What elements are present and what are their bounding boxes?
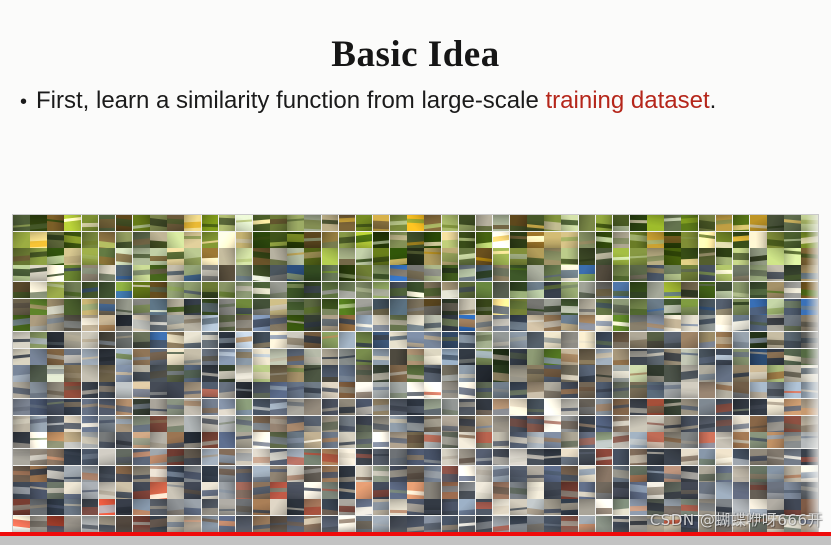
thumbnail-tile: [510, 499, 527, 515]
thumbnail-tile: [613, 399, 630, 415]
thumbnail-tile: [133, 449, 150, 465]
thumbnail-tile: [184, 265, 201, 281]
thumbnail-tile: [784, 232, 801, 248]
thumbnail-tile: [527, 432, 544, 448]
thumbnail-tile: [304, 248, 321, 264]
thumbnail-tile: [390, 215, 407, 231]
thumbnail-tile: [99, 432, 116, 448]
thumbnail-tile: [304, 466, 321, 482]
thumbnail-tile: [270, 382, 287, 398]
thumbnail-tile: [442, 399, 459, 415]
thumbnail-tile: [750, 332, 767, 348]
thumbnail-tile: [99, 399, 116, 415]
thumbnail-tile: [613, 466, 630, 482]
thumbnail-tile: [510, 399, 527, 415]
thumbnail-tile: [30, 516, 47, 532]
thumbnail-tile: [493, 299, 510, 315]
thumbnail-tile: [356, 365, 373, 381]
thumbnail-tile: [184, 248, 201, 264]
thumbnail-tile: [544, 349, 561, 365]
thumbnail-tile: [664, 449, 681, 465]
thumbnail-tile: [167, 466, 184, 482]
thumbnail-tile: [116, 299, 133, 315]
thumbnail-tile: [767, 382, 784, 398]
thumbnail-tile: [184, 432, 201, 448]
thumbnail-tile: [784, 215, 801, 231]
thumbnail-tile: [322, 499, 339, 515]
bullet-line: • First, learn a similarity function fro…: [20, 86, 817, 117]
thumbnail-tile: [442, 315, 459, 331]
thumbnail-tile: [202, 232, 219, 248]
thumbnail-tile: [647, 382, 664, 398]
thumbnail-tile: [613, 365, 630, 381]
thumbnail-tile: [596, 215, 613, 231]
thumbnail-tile: [13, 466, 30, 482]
thumbnail-tile: [681, 232, 698, 248]
thumbnail-tile: [287, 482, 304, 498]
thumbnail-tile: [116, 499, 133, 515]
thumbnail-tile: [30, 315, 47, 331]
thumbnail-tile: [596, 499, 613, 515]
thumbnail-tile: [99, 282, 116, 298]
thumbnail-tile: [424, 449, 441, 465]
thumbnail-tile: [664, 215, 681, 231]
thumbnail-tile: [356, 248, 373, 264]
thumbnail-tile: [733, 332, 750, 348]
thumbnail-tile: [253, 365, 270, 381]
thumbnail-tile: [630, 449, 647, 465]
thumbnail-tile: [390, 299, 407, 315]
thumbnail-tile: [699, 349, 716, 365]
thumbnail-tile: [733, 248, 750, 264]
thumbnail-tile: [596, 349, 613, 365]
thumbnail-tile: [630, 215, 647, 231]
thumbnail-tile: [47, 399, 64, 415]
thumbnail-tile: [219, 516, 236, 532]
thumbnail-tile: [13, 332, 30, 348]
thumbnail-tile: [407, 248, 424, 264]
thumbnail-tile: [82, 365, 99, 381]
thumbnail-tile: [270, 416, 287, 432]
thumbnail-tile: [681, 466, 698, 482]
thumbnail-tile: [99, 416, 116, 432]
thumbnail-tile: [493, 248, 510, 264]
thumbnail-tile: [322, 399, 339, 415]
thumbnail-tile: [236, 466, 253, 482]
thumbnail-tile: [596, 516, 613, 532]
thumbnail-tile: [664, 399, 681, 415]
thumbnail-tile: [184, 382, 201, 398]
thumbnail-tile: [47, 416, 64, 432]
thumbnail-tile: [133, 365, 150, 381]
thumbnail-tile: [64, 282, 81, 298]
thumbnail-tile: [167, 416, 184, 432]
thumbnail-tile: [579, 248, 596, 264]
thumbnail-tile: [184, 499, 201, 515]
thumbnail-tile: [64, 232, 81, 248]
thumbnail-tile: [527, 349, 544, 365]
thumbnail-tile: [459, 399, 476, 415]
thumbnail-tile: [150, 499, 167, 515]
thumbnail-tile: [373, 449, 390, 465]
thumbnail-tile: [407, 416, 424, 432]
thumbnail-tile: [339, 299, 356, 315]
thumbnail-tile: [459, 315, 476, 331]
thumbnail-tile: [476, 282, 493, 298]
thumbnail-tile: [561, 349, 578, 365]
thumbnail-tile: [442, 248, 459, 264]
thumbnail-tile: [699, 499, 716, 515]
thumbnail-tile: [304, 215, 321, 231]
thumbnail-tile: [579, 232, 596, 248]
thumbnail-tile: [133, 265, 150, 281]
thumbnail-tile: [579, 382, 596, 398]
thumbnail-tile: [476, 232, 493, 248]
thumbnail-tile: [202, 482, 219, 498]
thumbnail-tile: [270, 332, 287, 348]
thumbnail-tile: [801, 482, 818, 498]
thumbnail-tile: [733, 416, 750, 432]
thumbnail-tile: [253, 416, 270, 432]
thumbnail-tile: [13, 399, 30, 415]
thumbnail-tile: [236, 499, 253, 515]
thumbnail-tile: [664, 282, 681, 298]
thumbnail-tile: [47, 248, 64, 264]
thumbnail-tile: [630, 349, 647, 365]
thumbnail-tile: [681, 315, 698, 331]
thumbnail-tile: [716, 466, 733, 482]
thumbnail-tile: [184, 365, 201, 381]
thumbnail-tile: [561, 215, 578, 231]
thumbnail-tile: [82, 332, 99, 348]
thumbnail-tile: [304, 232, 321, 248]
thumbnail-tile: [681, 349, 698, 365]
thumbnail-tile: [733, 282, 750, 298]
thumbnail-tile: [561, 232, 578, 248]
thumbnail-tile: [561, 449, 578, 465]
thumbnail-tile: [424, 482, 441, 498]
thumbnail-tile: [270, 232, 287, 248]
thumbnail-tile: [733, 399, 750, 415]
thumbnail-tile: [647, 365, 664, 381]
thumbnail-tile: [750, 382, 767, 398]
thumbnail-tile: [150, 399, 167, 415]
thumbnail-tile: [733, 232, 750, 248]
thumbnail-tile: [99, 315, 116, 331]
thumbnail-tile: [476, 499, 493, 515]
thumbnail-tile: [304, 382, 321, 398]
thumbnail-tile: [750, 365, 767, 381]
thumbnail-tile: [184, 299, 201, 315]
thumbnail-tile: [561, 282, 578, 298]
thumbnail-tile: [527, 232, 544, 248]
thumbnail-tile: [133, 482, 150, 498]
thumbnail-tile: [630, 482, 647, 498]
thumbnail-tile: [699, 416, 716, 432]
thumbnail-tile: [339, 432, 356, 448]
thumbnail-tile: [476, 349, 493, 365]
thumbnail-tile: [82, 215, 99, 231]
thumbnail-tile: [253, 349, 270, 365]
thumbnail-tile: [476, 466, 493, 482]
thumbnail-tile: [236, 382, 253, 398]
thumbnail-tile: [459, 282, 476, 298]
thumbnail-tile: [664, 332, 681, 348]
thumbnail-tile: [202, 449, 219, 465]
thumbnail-tile: [167, 265, 184, 281]
thumbnail-tile: [784, 499, 801, 515]
thumbnail-tile: [133, 432, 150, 448]
thumbnail-tile: [47, 482, 64, 498]
thumbnail-tile: [493, 482, 510, 498]
thumbnail-tile: [544, 416, 561, 432]
thumbnail-tile: [716, 265, 733, 281]
thumbnail-tile: [116, 365, 133, 381]
thumbnail-tile: [442, 382, 459, 398]
thumbnail-tile: [424, 516, 441, 532]
thumbnail-tile: [784, 482, 801, 498]
thumbnail-tile: [801, 432, 818, 448]
thumbnail-tile: [202, 282, 219, 298]
thumbnail-tile: [356, 399, 373, 415]
video-player-strip[interactable]: [0, 536, 831, 545]
thumbnail-tile: [64, 332, 81, 348]
thumbnail-tile: [476, 416, 493, 432]
thumbnail-tile: [681, 382, 698, 398]
thumbnail-tile: [219, 365, 236, 381]
thumbnail-tile: [544, 265, 561, 281]
thumbnail-tile: [630, 248, 647, 264]
thumbnail-tile: [750, 449, 767, 465]
thumbnail-tile: [322, 315, 339, 331]
thumbnail-tile: [407, 399, 424, 415]
thumbnail-tile: [167, 282, 184, 298]
thumbnail-tile: [13, 432, 30, 448]
thumbnail-tile: [767, 365, 784, 381]
thumbnail-tile: [236, 265, 253, 281]
thumbnail-tile: [202, 315, 219, 331]
thumbnail-tile: [167, 315, 184, 331]
thumbnail-tile: [476, 365, 493, 381]
thumbnail-tile: [202, 248, 219, 264]
thumbnail-tile: [784, 365, 801, 381]
thumbnail-tile: [664, 466, 681, 482]
thumbnail-tile: [767, 432, 784, 448]
thumbnail-tile: [596, 399, 613, 415]
thumbnail-tile: [390, 482, 407, 498]
thumbnail-tile: [510, 382, 527, 398]
thumbnail-tile: [13, 299, 30, 315]
thumbnail-tile: [784, 449, 801, 465]
thumbnail-tile: [236, 315, 253, 331]
thumbnail-tile: [459, 349, 476, 365]
thumbnail-tile: [82, 432, 99, 448]
thumbnail-tile: [493, 466, 510, 482]
thumbnail-tile: [579, 482, 596, 498]
thumbnail-tile: [30, 466, 47, 482]
thumbnail-tile: [527, 299, 544, 315]
thumbnail-tile: [750, 232, 767, 248]
thumbnail-tile: [150, 332, 167, 348]
thumbnail-tile: [801, 299, 818, 315]
thumbnail-tile: [681, 332, 698, 348]
thumbnail-tile: [339, 416, 356, 432]
thumbnail-tile: [407, 449, 424, 465]
thumbnail-tile: [407, 516, 424, 532]
thumbnail-tile: [767, 499, 784, 515]
thumbnail-tile: [64, 516, 81, 532]
thumbnail-tile: [613, 315, 630, 331]
thumbnail-tile: [407, 215, 424, 231]
thumbnail-tile: [390, 332, 407, 348]
thumbnail-tile: [236, 516, 253, 532]
thumbnail-tile: [442, 232, 459, 248]
thumbnail-tile: [47, 466, 64, 482]
thumbnail-tile: [750, 248, 767, 264]
thumbnail-tile: [699, 299, 716, 315]
thumbnail-tile: [219, 282, 236, 298]
thumbnail-tile: [253, 482, 270, 498]
thumbnail-tile: [750, 265, 767, 281]
thumbnail-tile: [219, 416, 236, 432]
thumbnail-tile: [733, 265, 750, 281]
thumbnail-tile: [356, 466, 373, 482]
thumbnail-tile: [253, 399, 270, 415]
thumbnail-tile: [476, 265, 493, 281]
thumbnail-tile: [750, 499, 767, 515]
thumbnail-tile: [442, 432, 459, 448]
thumbnail-tile: [424, 432, 441, 448]
thumbnail-tile: [13, 449, 30, 465]
thumbnail-tile: [664, 432, 681, 448]
thumbnail-tile: [579, 265, 596, 281]
thumbnail-tile: [287, 399, 304, 415]
thumbnail-tile: [373, 399, 390, 415]
thumbnail-tile: [116, 432, 133, 448]
thumbnail-tile: [390, 432, 407, 448]
thumbnail-tile: [510, 416, 527, 432]
thumbnail-tile: [681, 432, 698, 448]
thumbnail-tile: [116, 332, 133, 348]
thumbnail-tile: [579, 466, 596, 482]
thumbnail-tile: [596, 248, 613, 264]
thumbnail-tile: [510, 432, 527, 448]
thumbnail-tile: [82, 232, 99, 248]
thumbnail-tile: [167, 299, 184, 315]
thumbnail-tile: [116, 232, 133, 248]
thumbnail-tile: [767, 299, 784, 315]
thumbnail-tile: [596, 365, 613, 381]
thumbnail-tile: [270, 265, 287, 281]
thumbnail-tile: [13, 248, 30, 264]
thumbnail-tile: [133, 299, 150, 315]
page-title: Basic Idea: [0, 33, 831, 77]
thumbnail-tile: [47, 299, 64, 315]
thumbnail-tile: [30, 449, 47, 465]
thumbnail-tile: [407, 432, 424, 448]
thumbnail-tile: [579, 432, 596, 448]
thumbnail-tile: [801, 416, 818, 432]
thumbnail-tile: [339, 248, 356, 264]
bullet-text-before: First, learn a similarity function from …: [36, 87, 545, 114]
thumbnail-tile: [716, 349, 733, 365]
thumbnail-tile: [716, 282, 733, 298]
thumbnail-tile: [561, 382, 578, 398]
thumbnail-tile: [253, 382, 270, 398]
thumbnail-tile: [236, 449, 253, 465]
thumbnail-tile: [253, 315, 270, 331]
thumbnail-tile: [99, 482, 116, 498]
thumbnail-tile: [184, 466, 201, 482]
thumbnail-tile: [510, 232, 527, 248]
thumbnail-tile: [424, 399, 441, 415]
thumbnail-tile: [202, 466, 219, 482]
thumbnail-tile: [322, 232, 339, 248]
thumbnail-tile: [253, 299, 270, 315]
thumbnail-tile: [407, 315, 424, 331]
thumbnail-tile: [424, 365, 441, 381]
thumbnail-tile: [47, 349, 64, 365]
thumbnail-tile: [339, 315, 356, 331]
thumbnail-tile: [184, 349, 201, 365]
thumbnail-tile: [253, 248, 270, 264]
thumbnail-tile: [116, 466, 133, 482]
thumbnail-tile: [647, 482, 664, 498]
thumbnail-tile: [82, 315, 99, 331]
thumbnail-tile: [716, 499, 733, 515]
thumbnail-tile: [322, 282, 339, 298]
thumbnail-tile: [699, 449, 716, 465]
thumbnail-tile: [442, 416, 459, 432]
thumbnail-tile: [99, 499, 116, 515]
thumbnail-tile: [30, 399, 47, 415]
thumbnail-tile: [647, 299, 664, 315]
thumbnail-tile: [459, 248, 476, 264]
thumbnail-tile: [373, 349, 390, 365]
thumbnail-tile: [699, 282, 716, 298]
thumbnail-tile: [373, 248, 390, 264]
thumbnail-tile: [236, 399, 253, 415]
thumbnail-tile: [647, 232, 664, 248]
thumbnail-tile: [390, 499, 407, 515]
thumbnail-tile: [373, 265, 390, 281]
thumbnail-tile: [30, 332, 47, 348]
thumbnail-tile: [47, 382, 64, 398]
thumbnail-tile: [64, 416, 81, 432]
thumbnail-tile: [64, 265, 81, 281]
thumbnail-tile: [322, 299, 339, 315]
thumbnail-tile: [150, 315, 167, 331]
thumbnail-tile: [699, 365, 716, 381]
thumbnail-tile: [442, 499, 459, 515]
thumbnail-tile: [527, 365, 544, 381]
thumbnail-tile: [630, 299, 647, 315]
thumbnail-tile: [116, 248, 133, 264]
thumbnail-tile: [733, 466, 750, 482]
thumbnail-tile: [13, 232, 30, 248]
thumbnail-tile: [30, 482, 47, 498]
thumbnail-tile: [647, 265, 664, 281]
thumbnail-tile: [253, 432, 270, 448]
thumbnail-tile: [82, 399, 99, 415]
thumbnail-tile: [767, 449, 784, 465]
thumbnail-tile: [544, 516, 561, 532]
thumbnail-tile: [219, 248, 236, 264]
thumbnail-tile: [373, 516, 390, 532]
thumbnail-tile: [596, 432, 613, 448]
bullet-text-after: .: [710, 87, 717, 114]
thumbnail-tile: [167, 382, 184, 398]
